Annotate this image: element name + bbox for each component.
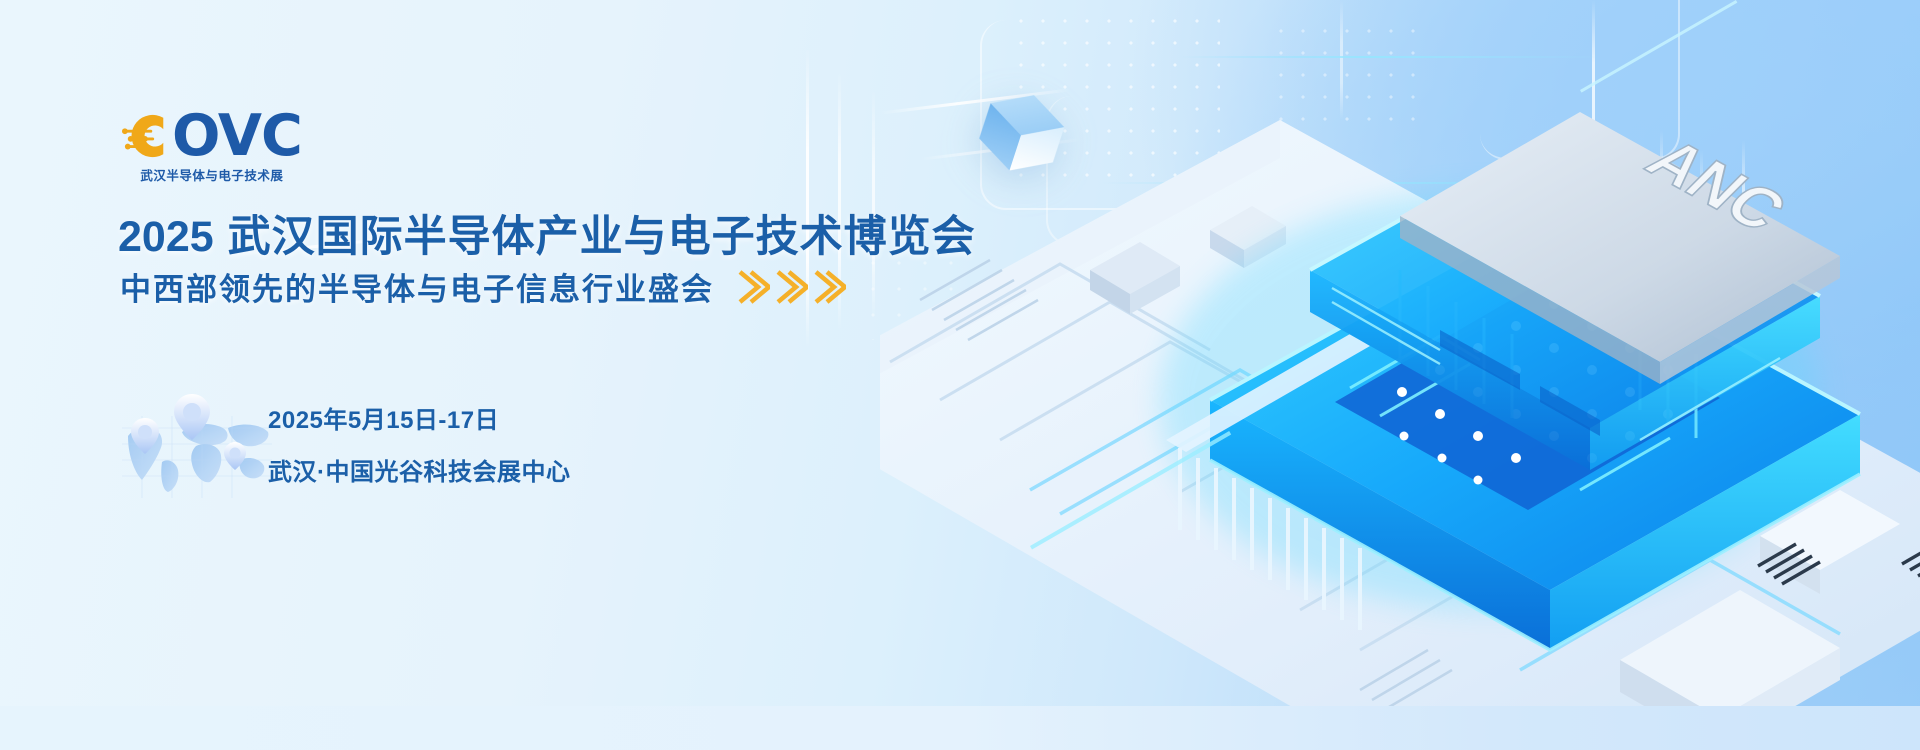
headline-title: 武汉国际半导体产业与电子技术博览会 xyxy=(228,213,976,261)
page-subtitle: 中西部领先的半导体与电子信息行业盛会 xyxy=(120,264,850,309)
chevron-group xyxy=(736,269,850,305)
double-chevron-right-icon xyxy=(736,269,770,305)
banner-content: OVC 武汉半导体与电子技术展 2025武汉国际半导体产业与电子技术博览会 中西… xyxy=(118,0,1018,750)
ovc-logo[interactable]: OVC 武汉半导体与电子技术展 xyxy=(122,112,302,184)
logo-wordmark: OVC xyxy=(172,112,302,160)
logo-tagline: 武汉半导体与电子技术展 xyxy=(140,165,283,184)
world-map-location-pins-icon xyxy=(122,388,272,498)
3d-semiconductor-chip-illustration: ANC xyxy=(880,0,1920,750)
bottom-band xyxy=(0,706,1920,750)
page-title: 2025武汉国际半导体产业与电子技术博览会 xyxy=(118,202,976,264)
subtitle-text: 中西部领先的半导体与电子信息行业盛会 xyxy=(120,264,714,309)
event-info: 2025年5月15日-17日 武汉·中国光谷科技会展中心 xyxy=(268,400,571,487)
event-banner: ANC xyxy=(0,0,1920,750)
ovc-circuit-c-mark-icon xyxy=(122,112,170,160)
double-chevron-right-icon xyxy=(812,269,846,305)
logo-row: OVC xyxy=(122,112,302,160)
event-venue: 武汉·中国光谷科技会展中心 xyxy=(268,452,571,487)
event-date: 2025年5月15日-17日 xyxy=(268,400,571,435)
headline-year: 2025 xyxy=(118,213,214,261)
double-chevron-right-icon xyxy=(774,269,808,305)
